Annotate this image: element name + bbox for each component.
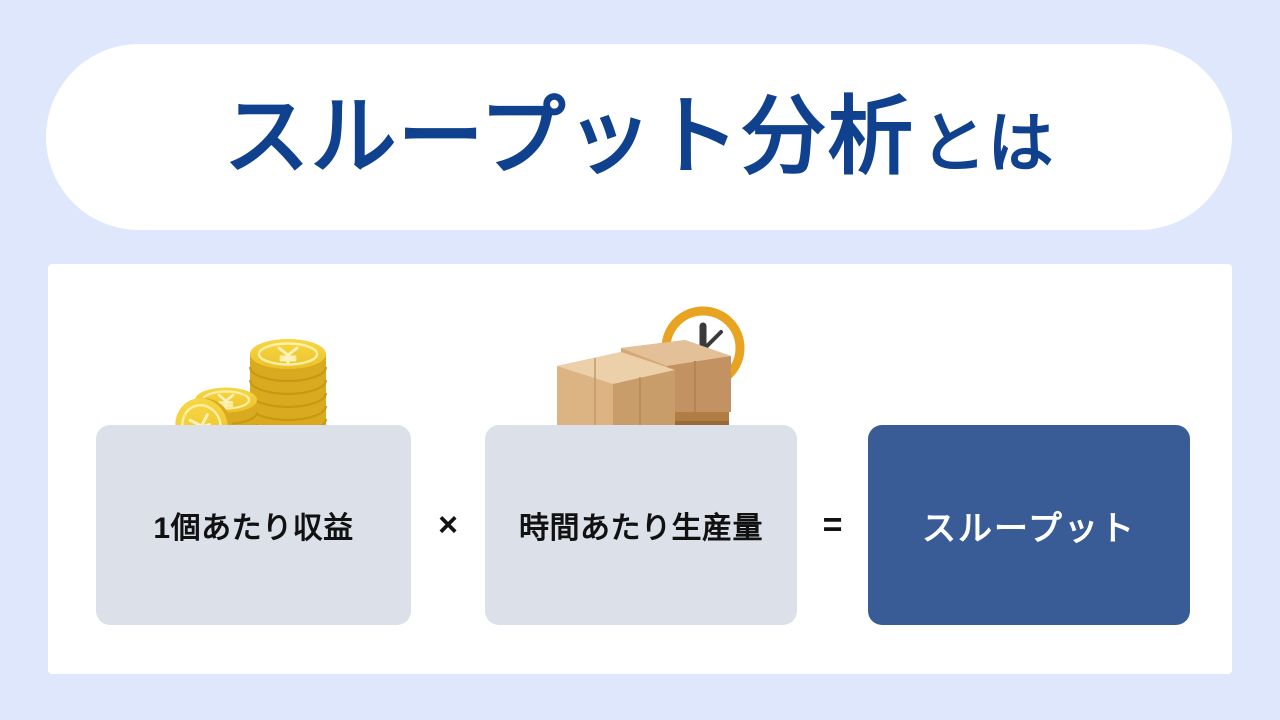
operator-equals-symbol: = [823, 506, 843, 545]
operator-multiply-symbol: × [438, 506, 458, 545]
title-banner: スループット分析 とは [46, 44, 1232, 230]
term-label-revenue: 1個あたり収益 [153, 503, 353, 547]
formula-row: 1個あたり収益 × 時間あたり生産量 = スループット [48, 425, 1232, 625]
page-title: スループット分析 とは [224, 94, 1055, 180]
operator-equals: = [797, 425, 868, 625]
term-label-result: スループット [922, 501, 1136, 550]
page-title-suffix: とは [920, 110, 1054, 176]
page-title-main: スループット分析 [224, 94, 915, 180]
operator-multiply: × [411, 425, 485, 625]
term-box-result[interactable]: スループット [868, 425, 1190, 625]
term-box-revenue[interactable]: 1個あたり収益 [96, 425, 411, 625]
term-label-output: 時間あたり生産量 [519, 503, 763, 547]
term-box-output[interactable]: 時間あたり生産量 [485, 425, 797, 625]
